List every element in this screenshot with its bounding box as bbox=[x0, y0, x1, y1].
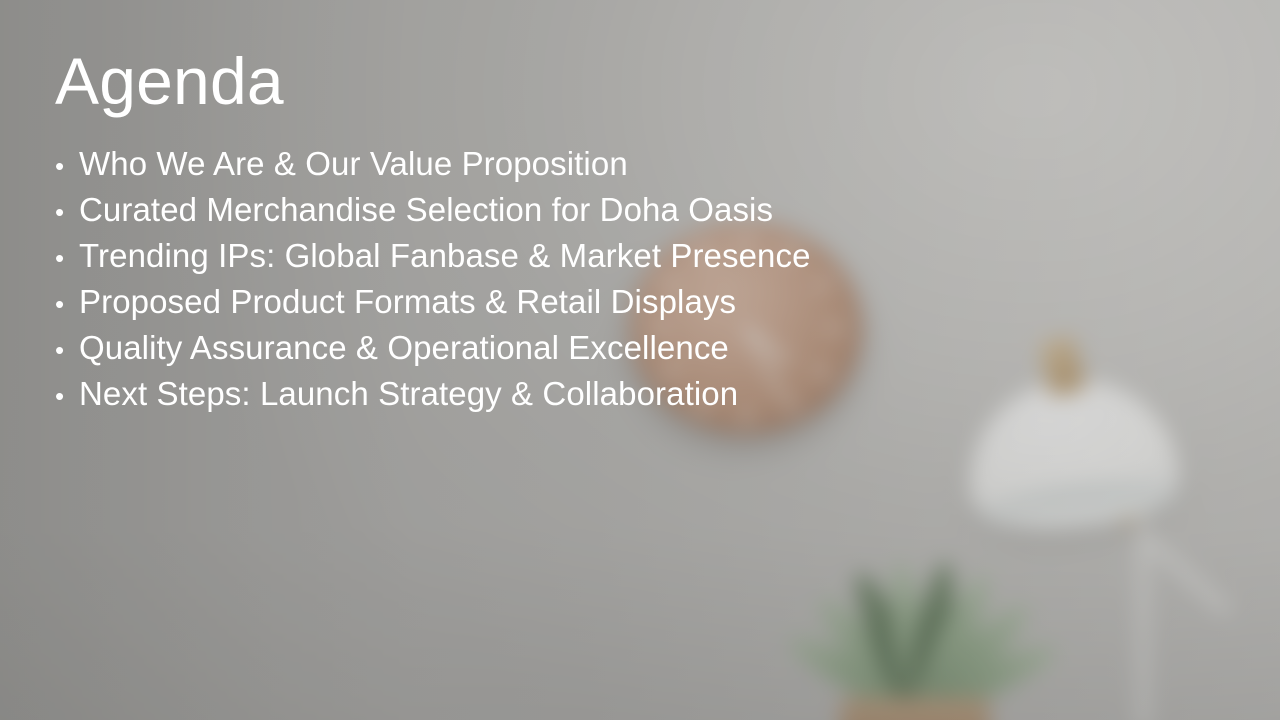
page-title: Agenda bbox=[55, 48, 284, 114]
list-item-label: Quality Assurance & Operational Excellen… bbox=[79, 329, 729, 367]
bullet-icon: • bbox=[55, 199, 79, 225]
bullet-icon: • bbox=[55, 291, 79, 317]
slide-content: Agenda • Who We Are & Our Value Proposit… bbox=[0, 0, 1280, 720]
agenda-list: • Who We Are & Our Value Proposition • C… bbox=[55, 145, 811, 421]
bullet-icon: • bbox=[55, 245, 79, 271]
list-item: • Trending IPs: Global Fanbase & Market … bbox=[55, 237, 811, 283]
list-item: • Quality Assurance & Operational Excell… bbox=[55, 329, 811, 375]
list-item-label: Trending IPs: Global Fanbase & Market Pr… bbox=[79, 237, 811, 275]
bullet-icon: • bbox=[55, 337, 79, 363]
list-item-label: Next Steps: Launch Strategy & Collaborat… bbox=[79, 375, 738, 413]
list-item: • Curated Merchandise Selection for Doha… bbox=[55, 191, 811, 237]
bullet-icon: • bbox=[55, 153, 79, 179]
bullet-icon: • bbox=[55, 383, 79, 409]
list-item-label: Curated Merchandise Selection for Doha O… bbox=[79, 191, 773, 229]
list-item-label: Who We Are & Our Value Proposition bbox=[79, 145, 628, 183]
list-item: • Who We Are & Our Value Proposition bbox=[55, 145, 811, 191]
list-item: • Proposed Product Formats & Retail Disp… bbox=[55, 283, 811, 329]
list-item: • Next Steps: Launch Strategy & Collabor… bbox=[55, 375, 811, 421]
presentation-slide: Agenda • Who We Are & Our Value Proposit… bbox=[0, 0, 1280, 720]
list-item-label: Proposed Product Formats & Retail Displa… bbox=[79, 283, 736, 321]
